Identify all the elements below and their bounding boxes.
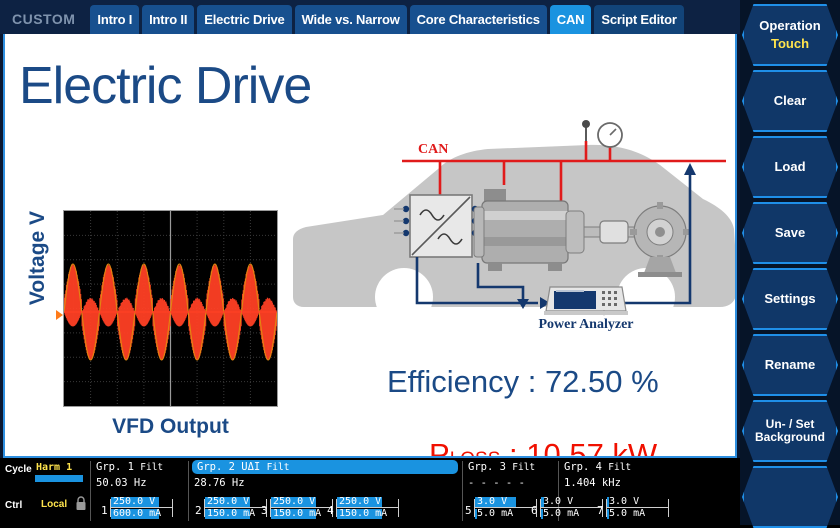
tab-bar: CUSTOM Intro I Intro II Electric Drive W…	[0, 0, 740, 34]
channel-voltage-value: 250.0 V	[207, 497, 249, 507]
channel-number: 1	[101, 504, 108, 517]
sidebar-button-empty[interactable]	[742, 466, 838, 528]
application-window: CUSTOM Intro I Intro II Electric Drive W…	[0, 0, 840, 525]
sidebar-button-settings-label: Settings	[764, 292, 815, 307]
lock-icon[interactable]	[75, 496, 87, 515]
sidebar-button-unset-background-label2: Background	[755, 431, 825, 444]
channel-number: 6	[531, 504, 538, 517]
sidebar-button-save[interactable]: Save	[742, 202, 838, 264]
sidebar-button-rename-label: Rename	[765, 358, 816, 373]
cycle-label: Cycle	[5, 464, 32, 475]
channel-number: 7	[597, 504, 604, 517]
channel-number: 5	[465, 504, 472, 517]
sidebar-button-operation-value: Touch	[771, 37, 809, 52]
cycle-bar	[35, 475, 83, 482]
group-2-frequency: 28.76 Hz	[194, 477, 245, 489]
ctrl-label: Ctrl	[5, 500, 22, 511]
powertrain-diagram: CAN	[288, 111, 737, 331]
channel-tick-right	[172, 499, 173, 517]
channel-current-value: 5.0 mA	[477, 509, 513, 519]
tab-intro-i[interactable]: Intro I	[90, 5, 139, 34]
channel-number: 3	[261, 504, 268, 517]
scope-y-axis-label: Voltage V	[26, 193, 50, 323]
sidebar-button-load[interactable]: Load	[742, 136, 838, 198]
power-analyzer-icon	[544, 287, 628, 315]
sidebar-button-settings[interactable]: Settings	[742, 268, 838, 330]
channel-voltage-value: 250.0 V	[113, 497, 155, 507]
channel-voltage-value: 3.0 V	[543, 497, 573, 507]
power-loss-label: P	[429, 437, 450, 458]
tab-wide-vs-narrow[interactable]: Wide vs. Narrow	[295, 5, 407, 34]
efficiency-value: 72.50 %	[545, 364, 659, 399]
tab-intro-ii[interactable]: Intro II	[142, 5, 194, 34]
sensor-icons	[582, 120, 622, 147]
tab-script-editor[interactable]: Script Editor	[594, 5, 683, 34]
channel-current-value: 5.0 mA	[543, 509, 579, 519]
sidebar-button-clear[interactable]: Clear	[742, 70, 838, 132]
group-4-filt: Filt	[608, 462, 631, 473]
sidebar-button-clear-label: Clear	[774, 94, 807, 109]
group-2-header[interactable]: Grp. 2 UΔI Filt	[192, 460, 458, 474]
power-analyzer-label: Power Analyzer	[539, 317, 634, 331]
scope-display[interactable]	[63, 210, 278, 407]
channel-current-value: 150.0 mA	[207, 509, 255, 519]
channel-current-value: 150.0 mA	[273, 509, 321, 519]
efficiency-readout: Efficiency : 72.50 %	[387, 364, 659, 400]
group-1-header[interactable]: Grp. 1 Filt	[96, 461, 163, 473]
power-loss-readout: PLOSS : 10.57 kW	[429, 437, 657, 458]
sidebar-button-unset-background[interactable]: Un- / Set Background	[742, 400, 838, 462]
main-panel: Electric Drive	[3, 34, 737, 458]
group-2-filt: Filt	[267, 462, 290, 473]
channel-tick-right	[398, 499, 399, 517]
group-3-header[interactable]: Grp. 3 Filt	[468, 461, 535, 473]
sidebar-button-load-label: Load	[774, 160, 805, 175]
group-1-name: Grp. 1	[96, 461, 134, 473]
channel-number: 4	[327, 504, 334, 517]
group-4-header[interactable]: Grp. 4 Filt	[564, 461, 631, 473]
sidebar-button-unset-background-label: Un- / Set	[766, 418, 815, 431]
group-2-name: Grp. 2	[197, 461, 235, 473]
scope-caption: VFD Output	[63, 415, 278, 439]
group-3-filt: Filt	[512, 462, 535, 473]
channel-number: 2	[195, 504, 202, 517]
group-4-frequency: 1.404 kHz	[564, 477, 621, 489]
channel-voltage-value: 3.0 V	[609, 497, 639, 507]
cycle-value[interactable]: Harm 1	[36, 462, 72, 473]
tab-electric-drive[interactable]: Electric Drive	[197, 5, 291, 34]
power-loss-separator: :	[500, 437, 526, 458]
channel-current-value: 600.0 mA	[113, 509, 161, 519]
sidebar: Operation Touch Clear Load Save Settings…	[740, 0, 840, 525]
channel-current-value: 150.0 mA	[339, 509, 387, 519]
tab-core-characteristics[interactable]: Core Characteristics	[410, 5, 547, 34]
ctrl-value[interactable]: Local	[41, 499, 67, 510]
group-3-name: Grp. 3	[468, 461, 506, 473]
group-4-name: Grp. 4	[564, 461, 602, 473]
scope-area: Voltage V	[15, 200, 285, 450]
channel-voltage-value: 250.0 V	[273, 497, 315, 507]
efficiency-label: Efficiency :	[387, 364, 545, 399]
sidebar-button-rename[interactable]: Rename	[742, 334, 838, 396]
scope-cursor-marker[interactable]	[56, 310, 63, 320]
sidebar-button-operation[interactable]: Operation Touch	[742, 4, 838, 66]
page-title: Electric Drive	[19, 56, 311, 116]
group-1-filt: Filt	[140, 462, 163, 473]
power-loss-subscript: LOSS	[450, 449, 501, 458]
channel-tick-right	[668, 499, 669, 517]
channel-current-value: 5.0 mA	[609, 509, 645, 519]
sidebar-button-save-label: Save	[775, 226, 805, 241]
channel-voltage-value: 3.0 V	[477, 497, 507, 507]
sidebar-button-operation-label: Operation	[759, 19, 820, 34]
can-bus-label: CAN	[418, 142, 448, 157]
tab-can[interactable]: CAN	[550, 5, 592, 34]
custom-label: CUSTOM	[4, 11, 87, 34]
status-bar: Cycle Harm 1 Ctrl Local Grp. 1 Filt 50.0…	[0, 458, 740, 525]
power-loss-value: 10.57 kW	[526, 437, 657, 458]
channel-voltage-value: 250.0 V	[339, 497, 381, 507]
group-3-frequency: - - - - -	[468, 477, 525, 489]
group-2-mode: UΔI	[241, 461, 260, 473]
group-1-frequency: 50.03 Hz	[96, 477, 147, 489]
